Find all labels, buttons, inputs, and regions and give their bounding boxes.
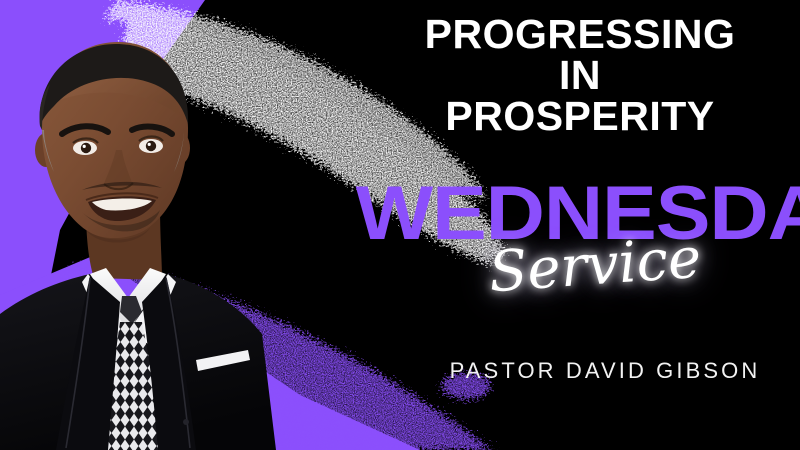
pastor-portrait xyxy=(0,30,300,450)
headline-line-3: PROSPERITY xyxy=(380,96,780,137)
flyer-canvas: PROGRESSING IN PROSPERITY WEDNESDAY Serv… xyxy=(0,0,800,450)
page-title: PROGRESSING IN PROSPERITY xyxy=(380,14,780,137)
speaker-name: PASTOR DAVID GIBSON xyxy=(440,358,770,384)
headline-line-2: IN xyxy=(380,55,780,96)
service-script-label: Service xyxy=(468,229,721,302)
headline-line-1: PROGRESSING xyxy=(380,14,780,55)
